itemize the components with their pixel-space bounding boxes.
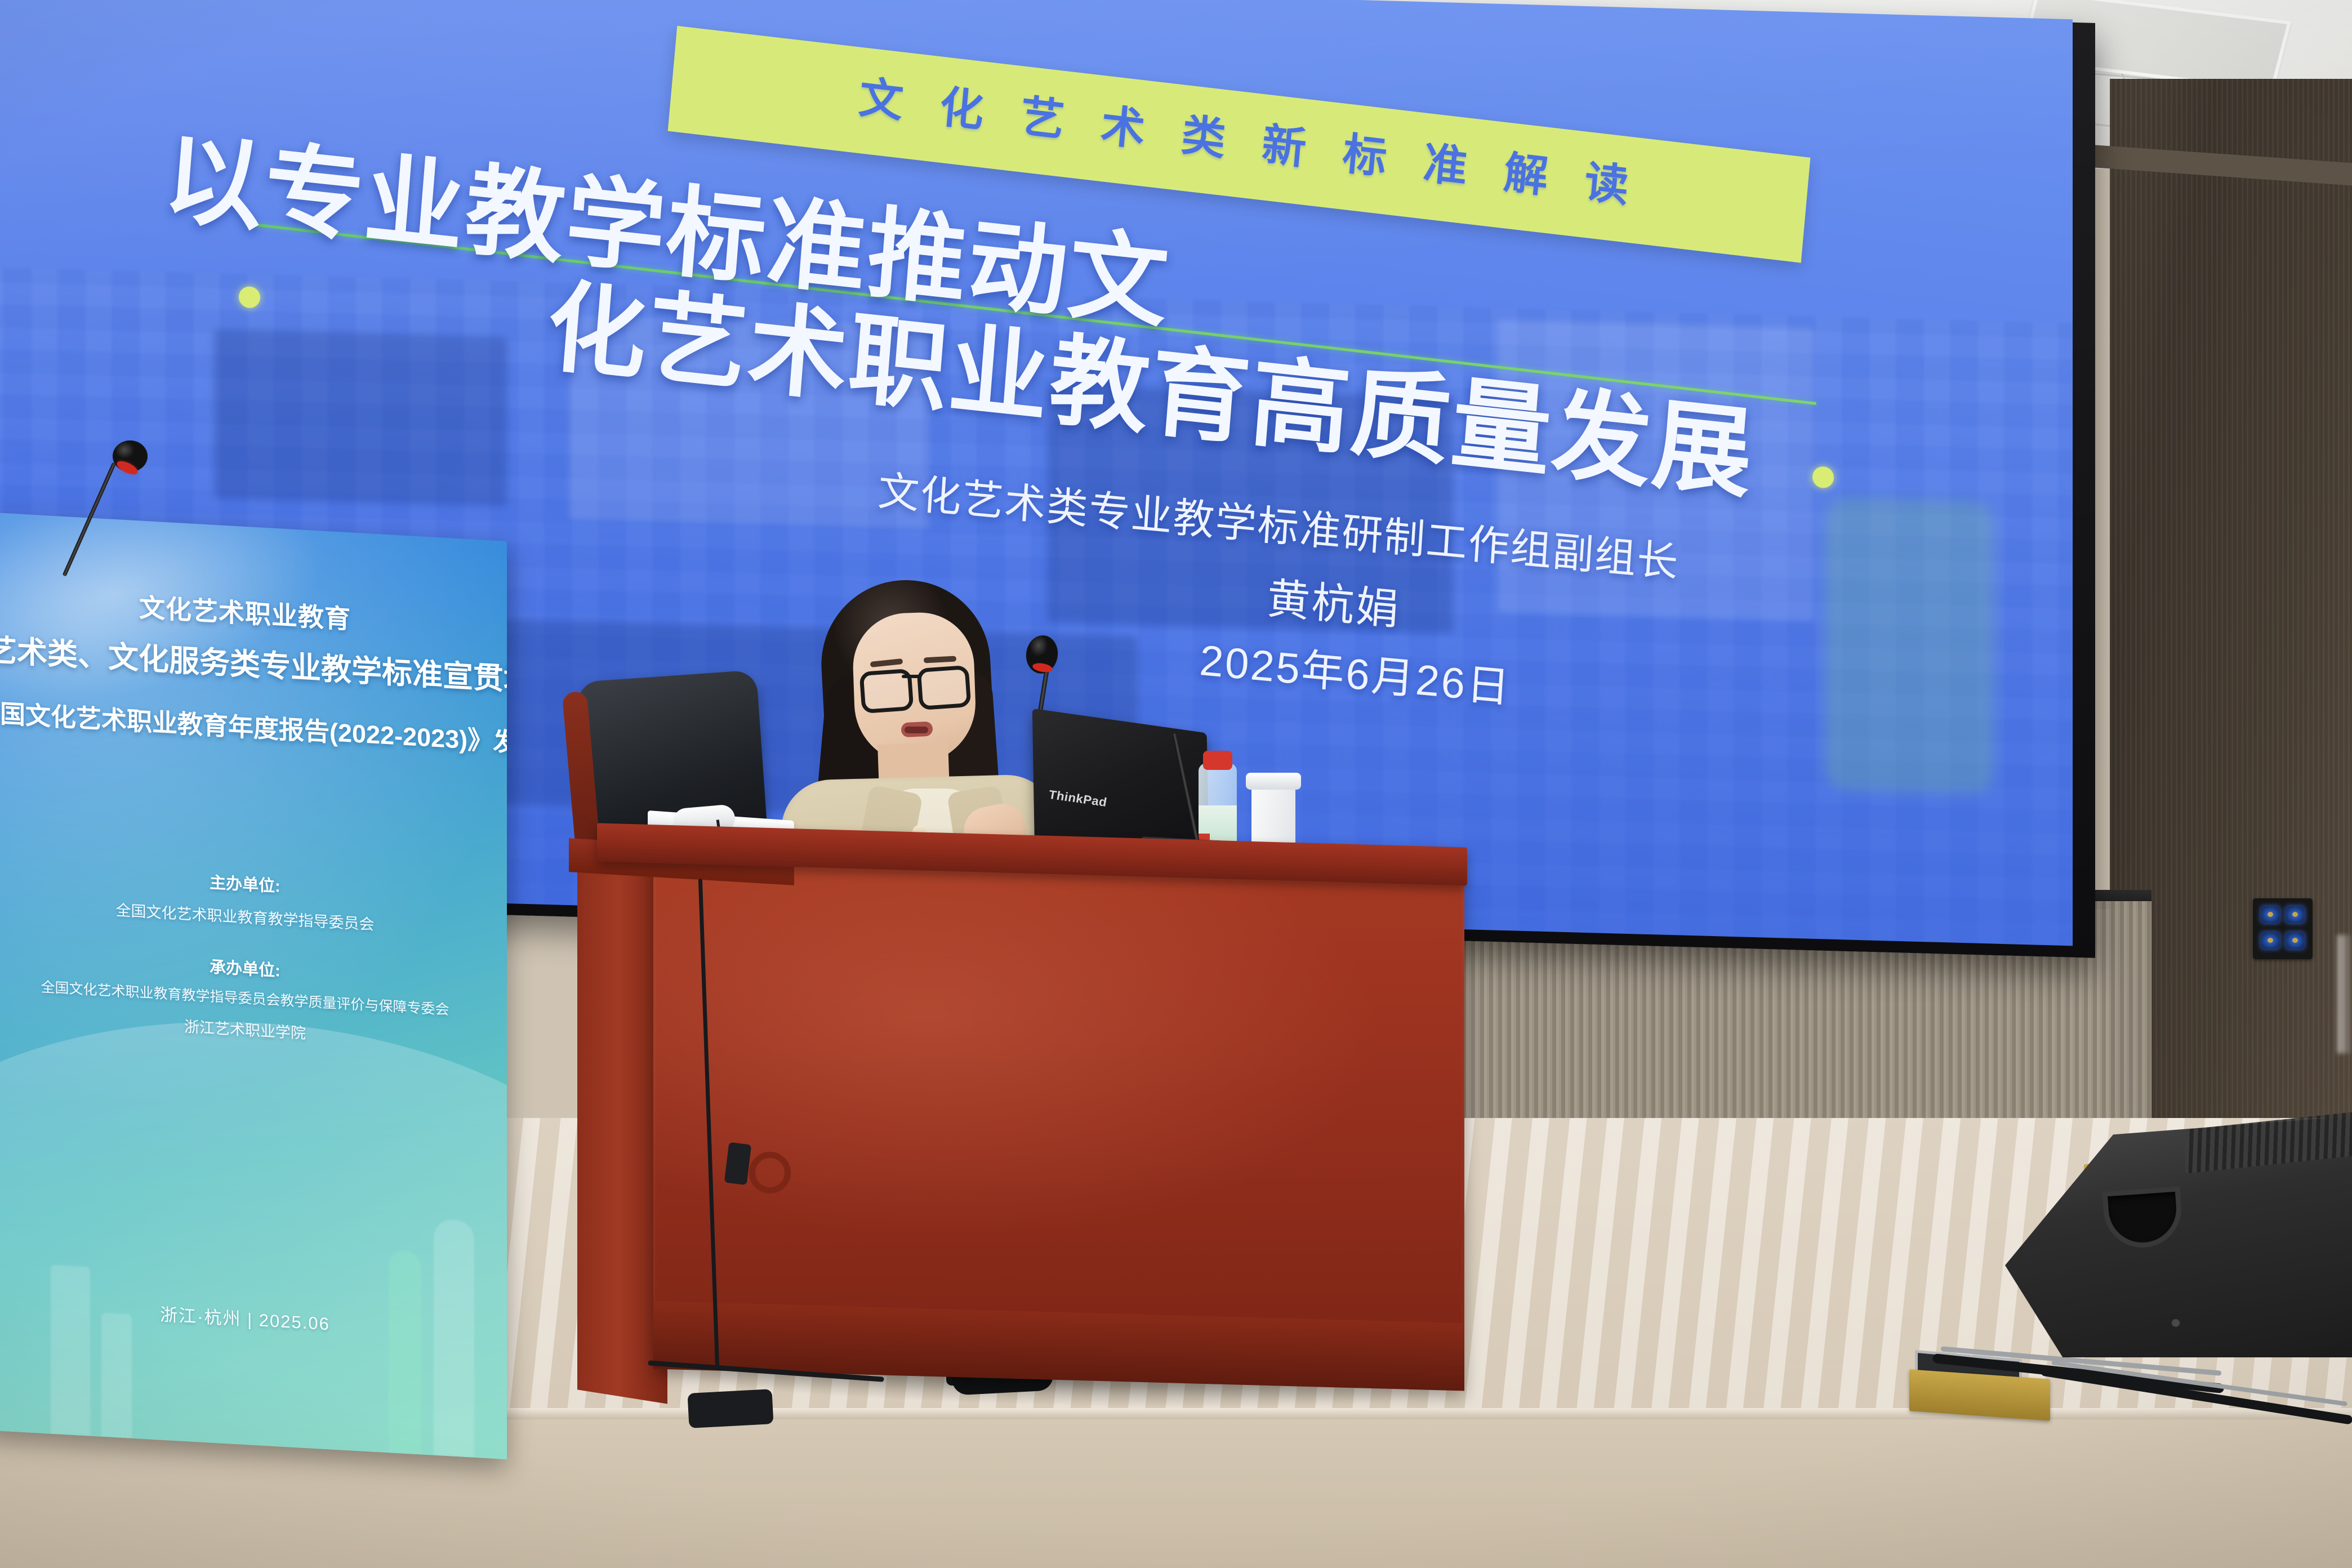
slide-presenter-name: 黄杭娟 — [1266, 563, 1402, 637]
switch-button-1[interactable] — [2261, 906, 2280, 923]
slide-bg-shape — [214, 329, 507, 506]
switch-button-4[interactable] — [2286, 932, 2305, 949]
speaker-screw — [2171, 1318, 2180, 1327]
accent-dot-right — [1812, 466, 1834, 488]
switch-button-2[interactable] — [2286, 906, 2305, 923]
banner-skyline-shape — [51, 1265, 90, 1436]
banner-skyline-shape — [389, 1250, 421, 1454]
wall-light-edge — [2337, 935, 2352, 1053]
cable-loop — [749, 1152, 791, 1193]
accent-dot-left — [239, 286, 260, 308]
banner-skyline-shape — [101, 1313, 132, 1438]
screenshot-root: 文 化 艺 术 类 新 标 准 解 读 以专业教学标准推动文 化艺术职业教育高质… — [0, 0, 2352, 1568]
glasses-lens-right — [917, 665, 972, 710]
standing-banner: 文化艺术职业教育 表演艺术类、文化服务类专业教学标准宣贯培训 《中国文化艺术职业… — [0, 512, 507, 1459]
water-bottle-cap[interactable] — [1203, 751, 1232, 770]
presenter-mouth-inner — [905, 727, 928, 733]
switch-button-3[interactable] — [2261, 932, 2280, 949]
glasses-bridge — [902, 675, 921, 678]
wall-switch-panel[interactable] — [2253, 898, 2313, 959]
slide-bg-foliage — [1825, 497, 1994, 794]
floor-power-adapter — [687, 1389, 773, 1428]
paper-cup-lid — [1246, 773, 1301, 790]
